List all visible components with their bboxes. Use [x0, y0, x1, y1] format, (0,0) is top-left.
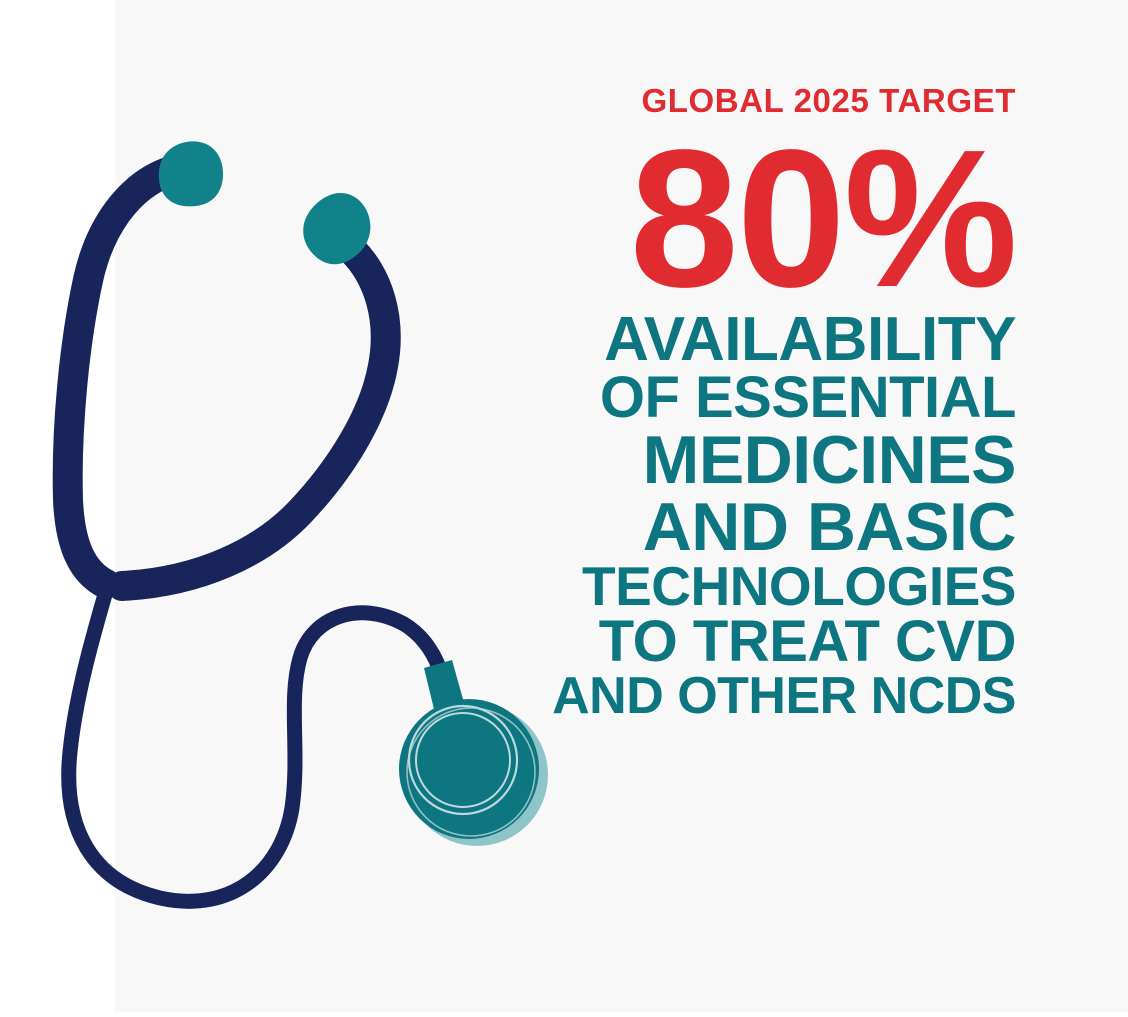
body-line-5: TECHNOLOGIES	[496, 560, 1016, 614]
right-binaural-tube	[122, 250, 386, 586]
infographic-root: GLOBAL 2025 TARGET 80% AVAILABILITY OF E…	[0, 0, 1128, 1012]
body-line-6: TO TREAT CVD	[496, 614, 1016, 671]
left-binaural-tube	[68, 172, 168, 584]
body-text: AVAILABILITY OF ESSENTIAL MEDICINES AND …	[496, 310, 1016, 723]
body-line-7: AND OTHER NCDS	[496, 671, 1016, 722]
body-line-2: OF ESSENTIAL	[496, 370, 1016, 427]
main-tube-loop	[69, 584, 442, 901]
left-earpiece-tip	[159, 141, 223, 206]
body-line-3: MEDICINES	[496, 427, 1016, 494]
body-line-1: AVAILABILITY	[496, 310, 1016, 371]
text-block: GLOBAL 2025 TARGET 80% AVAILABILITY OF E…	[496, 84, 1016, 722]
body-line-4: AND BASIC	[496, 494, 1016, 561]
stat-value: 80%	[496, 135, 1016, 304]
